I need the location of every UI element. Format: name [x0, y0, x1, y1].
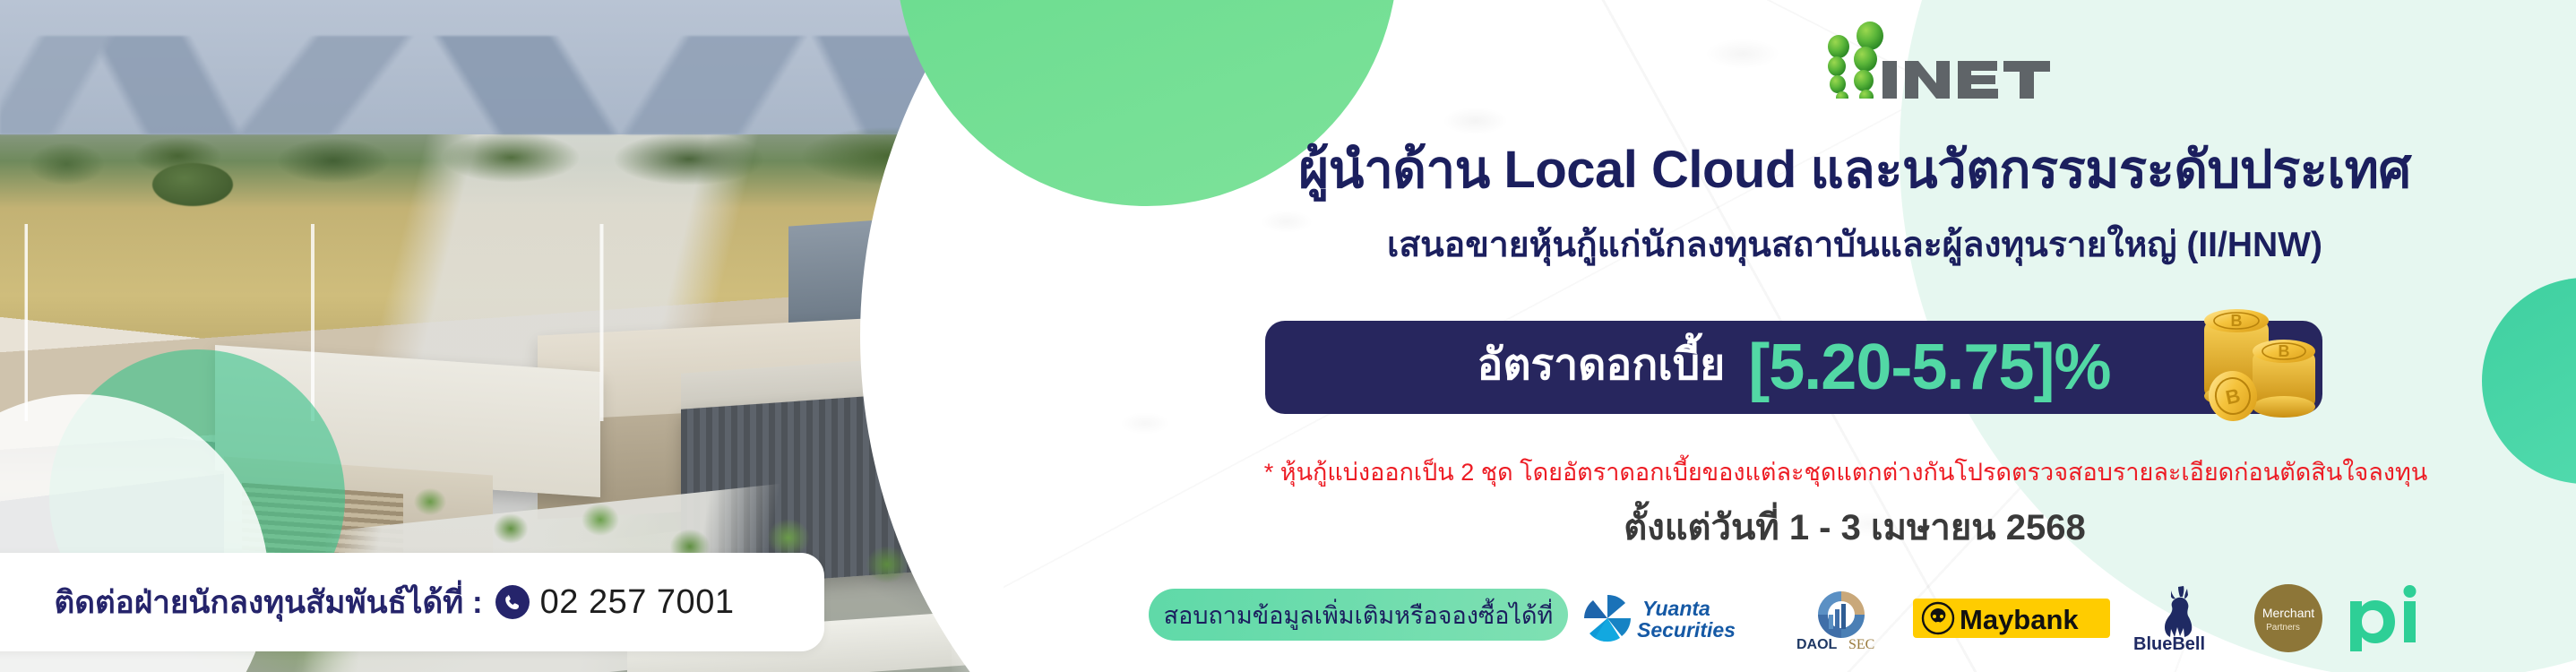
phone-icon: [495, 585, 530, 619]
partner-logos: Yuanta Securities DAOL SEC: [1581, 573, 2460, 663]
inet-logo: [1788, 20, 2083, 99]
inet-wordmark: [1882, 61, 2050, 99]
inet-bond-offering-banner: ผู้นำด้าน Local Cloud และนวัตกรรมระดับปร…: [0, 0, 2576, 672]
interest-rate-badge: อัตราดอกเบี้ย [5.20-5.75]%: [1265, 321, 2322, 414]
gold-coin-stack-icon: B B B: [2186, 296, 2330, 430]
partner-logo-pi[interactable]: [2345, 585, 2422, 651]
inquiry-cta-button[interactable]: สอบถามข้อมูลเพิ่มเติมหรือจองซื้อได้ที่: [1149, 589, 1568, 641]
maybank-tiger-icon: [1923, 603, 1953, 633]
merchant-line1: Merchant: [2262, 606, 2314, 620]
partner-logo-yuanta[interactable]: Yuanta Securities: [1581, 590, 1770, 646]
daol-circle-chart-icon: [1818, 591, 1865, 638]
daol-line2: SEC: [1848, 637, 1874, 652]
partner-logo-daolsec[interactable]: DAOL SEC: [1791, 584, 1891, 652]
investor-relations-contact-card: ติดต่อฝ่ายนักลงทุนสัมพันธ์ได้ที่ : 02 25…: [0, 553, 824, 651]
page-subtitle: เสนอขายหุ้นกู้แก่นักลงทุนสถาบันและผู้ลงท…: [1192, 226, 2518, 266]
disclaimer-text: * หุ้นกู้แบ่งออกเป็น 2 ชุด โดยอัตราดอกเบ…: [1111, 452, 2576, 491]
svg-text:B: B: [2231, 312, 2243, 330]
contact-phone-number[interactable]: 02 257 7001: [540, 583, 735, 622]
yuanta-line1: Yuanta: [1642, 597, 1710, 620]
interest-rate-label: อัตราดอกเบี้ย: [1477, 344, 1725, 391]
lone-tree: [152, 163, 233, 206]
interest-rate-value: [5.20-5.75]%: [1748, 335, 2110, 400]
partner-logo-merchant-partners[interactable]: Merchant Partners: [2253, 583, 2323, 653]
merchant-line2: Partners: [2266, 623, 2300, 633]
offer-period-text: ตั้งแต่วันที่ 1 - 3 เมษายน 2568: [1192, 498, 2518, 556]
inet-dots-icon: [1828, 22, 1883, 99]
bluebell-stag-icon: [2165, 586, 2192, 637]
pi-wordmark-icon: [2350, 585, 2417, 651]
partner-logo-maybank[interactable]: Maybank: [1913, 595, 2110, 642]
partner-logo-bluebell[interactable]: BlueBell: [2132, 583, 2232, 653]
bluebell-wordmark: BlueBell: [2133, 634, 2205, 653]
yuanta-line2: Securities: [1637, 618, 1736, 642]
contact-label: ติดต่อฝ่ายนักลงทุนสัมพันธ์ได้ที่ :: [55, 578, 483, 627]
maybank-wordmark: Maybank: [1960, 604, 2079, 635]
page-title: ผู้นำด้าน Local Cloud และนวัตกรรมระดับปร…: [1192, 142, 2518, 199]
yuanta-star-icon: [1584, 595, 1631, 642]
svg-text:B: B: [2279, 342, 2290, 360]
daol-line1: DAOL: [1796, 637, 1838, 652]
